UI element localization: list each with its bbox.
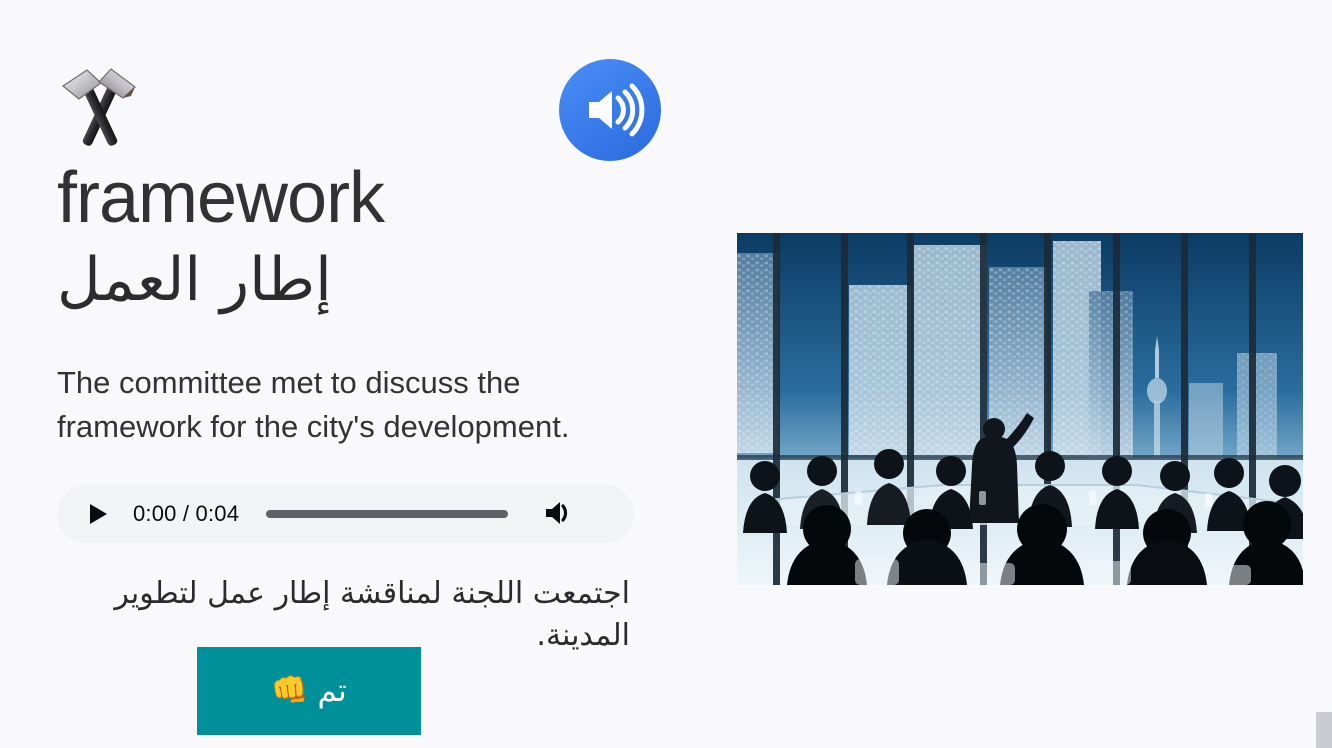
- audio-player[interactable]: 0:00 / 0:04: [57, 485, 634, 543]
- headword-arabic: إطار العمل: [57, 246, 707, 315]
- done-button-label: تم: [318, 676, 347, 707]
- loud-speaker-icon: [559, 149, 661, 164]
- vocabulary-illustration: [737, 233, 1303, 585]
- audio-progress-bar[interactable]: [266, 510, 508, 518]
- pronounce-button[interactable]: [559, 59, 661, 161]
- fist-bump-icon: 👊: [271, 676, 308, 706]
- flashcard-page: framework إطار العمل The committee met t…: [0, 0, 1332, 748]
- done-button[interactable]: تم 👊: [197, 647, 421, 735]
- word-panel: framework إطار العمل The committee met t…: [57, 56, 707, 657]
- play-button[interactable]: [85, 501, 111, 527]
- page-title: framework: [57, 162, 707, 234]
- scrollbar-thumb[interactable]: [1316, 712, 1332, 748]
- page-scrollbar[interactable]: [1316, 0, 1332, 748]
- volume-button[interactable]: [542, 499, 576, 529]
- volume-icon: [543, 499, 575, 530]
- example-sentence-arabic: اجتمعت اللجنة لمناقشة إطار عمل لتطوير ال…: [57, 573, 630, 657]
- play-icon: [90, 504, 107, 524]
- audio-time-display: 0:00 / 0:04: [133, 501, 239, 527]
- example-sentence-english: The committee met to discuss the framewo…: [57, 361, 672, 449]
